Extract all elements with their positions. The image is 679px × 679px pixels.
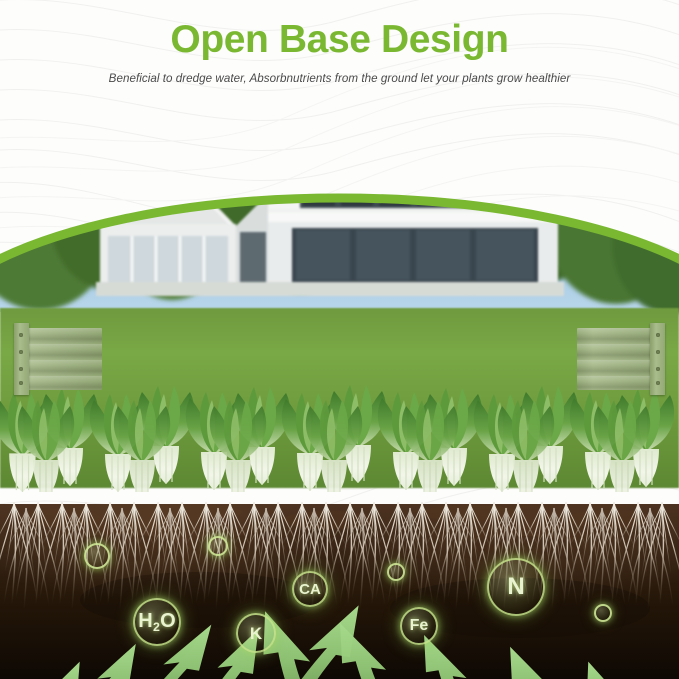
rivet [656, 333, 660, 337]
nutrient-bubble-fe: Fe [400, 607, 438, 645]
nutrient-bubble-ring-2 [208, 536, 228, 556]
nutrient-label: H2O [138, 611, 175, 633]
nutrient-arrow [492, 647, 603, 679]
right-planter-post [650, 323, 665, 395]
nutrient-flow-arrows [0, 512, 679, 679]
rivet [656, 367, 660, 371]
infographic-stage: Open Base Design Beneficial to dredge wa… [0, 0, 679, 679]
rivet [656, 350, 660, 354]
left-planter-post [14, 323, 29, 395]
scene-photo [0, 112, 679, 679]
nutrient-bubble-ring-3 [387, 563, 405, 581]
header: Open Base Design Beneficial to dredge wa… [0, 0, 679, 118]
nutrient-bubble-ring-4 [594, 604, 612, 622]
nutrient-label: K [250, 625, 262, 642]
nutrient-label: CA [299, 582, 321, 597]
nutrient-label: Fe [410, 618, 429, 634]
rivet [19, 367, 23, 371]
right-planter-panel [577, 328, 665, 390]
nutrient-label: N [507, 575, 524, 599]
nutrient-arrow [572, 662, 660, 679]
nutrient-arrow [39, 644, 153, 679]
nutrient-bubble-ca: CA [292, 571, 328, 607]
nutrient-bubble-n: N [487, 558, 545, 616]
left-planter-panel [14, 328, 102, 390]
scene-arc-mask [0, 112, 679, 679]
rivet [19, 381, 23, 385]
nutrient-bubble-ring-1 [84, 543, 110, 569]
rivet [19, 350, 23, 354]
page-subtitle: Beneficial to dredge water, Absorbnutrie… [0, 72, 679, 85]
nutrient-arrow [6, 662, 94, 679]
nutrient-bubble-h2o: H2O [133, 598, 181, 646]
page-title: Open Base Design [0, 20, 679, 59]
nutrient-bubble-k: K [236, 613, 276, 653]
rivet [19, 333, 23, 337]
rivet [656, 381, 660, 385]
